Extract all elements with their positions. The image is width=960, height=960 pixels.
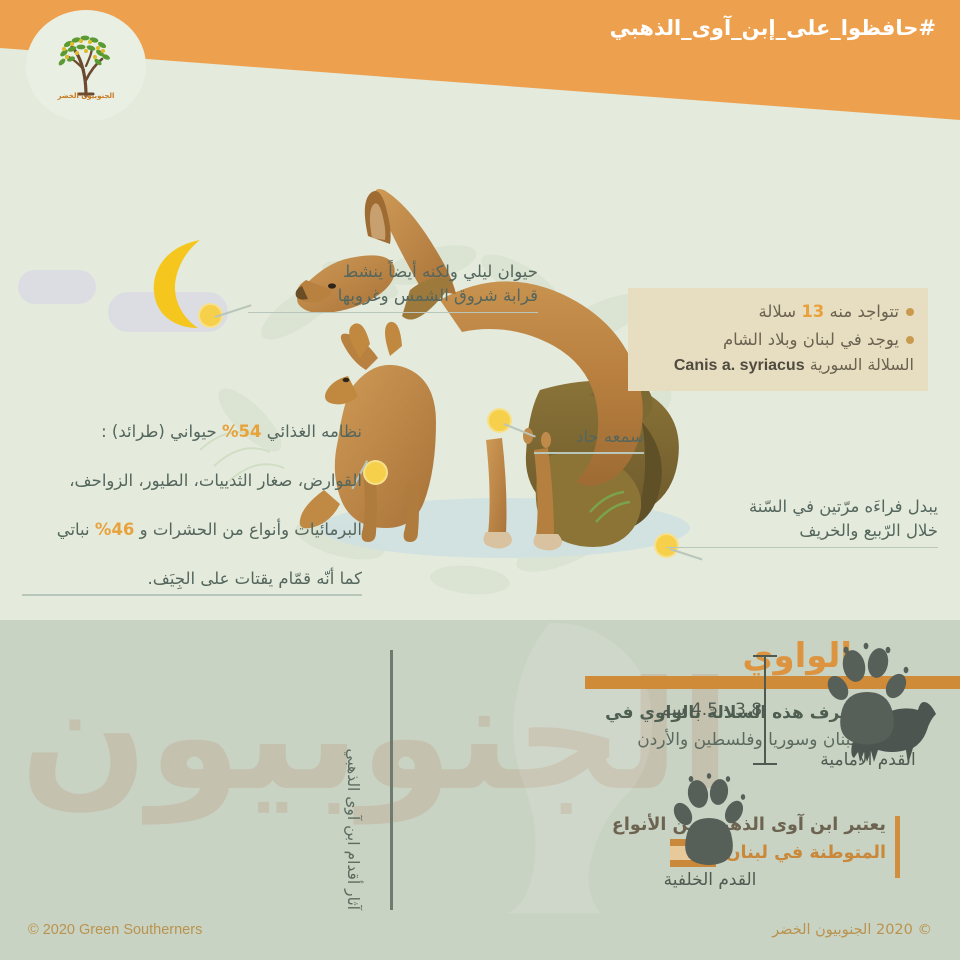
hind-paw-label: القدم الخلفية <box>650 870 770 890</box>
diet-line1-b: حيواني (طرائد) : <box>101 422 222 441</box>
diet-line4: كما أنّه قمّام يقتات على الجِيَف. <box>148 569 362 588</box>
callout-diet: نظامه الغذائي 54% حيواني (طرائد) : القوا… <box>22 396 362 596</box>
callout-diet-text: نظامه الغذائي 54% حيواني (طرائد) : القوا… <box>22 396 362 591</box>
hashtag-title: #حافظوا_على_إبن_آوى_الذهبي <box>610 16 936 40</box>
footer-copyright-ar: © 2020 الجنوبيون الخضر <box>772 922 932 938</box>
bullet-icon <box>906 308 914 316</box>
info-item1-text: تتواجد منه 13 سلالة <box>759 300 899 324</box>
callout-nocturnal-rule <box>248 312 538 314</box>
main-illustration-panel: حيوان ليلي ولكنه أيضاً ينشط قرابة شروق ا… <box>0 120 960 620</box>
bullet-icon <box>906 336 914 344</box>
paw-measurement-label: 3.8 - 4.5 سم <box>660 700 762 720</box>
callout-nocturnal-text: حيوان ليلي ولكنه أيضاً ينشط قرابة شروق ا… <box>248 260 538 309</box>
paw-print-icon <box>822 642 914 746</box>
callout-hearing-rule <box>534 452 644 454</box>
info-item2-text: يوجد في لبنان وبلاد الشام <box>723 328 899 352</box>
diet-line2: القوارض، صغار الثدييات، الطيور، الزواحف، <box>69 471 362 490</box>
callout-fur-text: يبدل فراءَه مرّتين في السّنة خلال الرّبي… <box>666 495 938 544</box>
front-paw-label: القدم الأمامية <box>808 750 928 770</box>
callout-diet-rule <box>22 594 362 596</box>
section-divider <box>390 650 393 910</box>
diet-pct-46: 46% <box>95 520 135 539</box>
subspecies-latin: Canis a. syriacus <box>674 357 805 374</box>
subspecies-count: 13 <box>801 302 824 321</box>
diet-pct-54: 54% <box>222 422 262 441</box>
diet-line1-a: نظامه الغذائي <box>262 422 363 441</box>
callout-fur: يبدل فراءَه مرّتين في السّنة خلال الرّبي… <box>666 495 938 548</box>
infographic-root: #حافظوا_على_إبن_آوى_الذهبي <box>0 0 960 960</box>
subspecies-arabic: السلالة السورية <box>810 355 914 374</box>
front-paw-block: القدم الأمامية <box>808 642 928 770</box>
cloud-decor-1 <box>18 270 96 304</box>
subspecies-info-box: تتواجد منه 13 سلالة يوجد في لبنان وبلاد … <box>628 288 928 391</box>
callout-hearing-text: سمعه حاد <box>534 425 644 449</box>
endangered-accent-bar <box>895 816 900 878</box>
callout-dot-diet <box>365 462 386 483</box>
info-box-item-2: يوجد في لبنان وبلاد الشام <box>640 328 914 352</box>
callout-nocturnal: حيوان ليلي ولكنه أيضاً ينشط قرابة شروق ا… <box>248 260 538 313</box>
diet-line3-a: البرمائيات وأنواع من الحشرات و <box>134 520 362 539</box>
callout-hearing: سمعه حاد <box>534 425 644 454</box>
callout-fur-rule <box>666 547 938 549</box>
tracks-section-label: آثار أقدام ابن آوى الذهبي <box>340 650 362 910</box>
logo-caption: الجنوبيون الخضر <box>26 92 146 100</box>
jackal-silhouette-watermark <box>430 615 660 915</box>
info-box-item-1: تتواجد منه 13 سلالة <box>640 300 914 324</box>
footer-copyright-en: © 2020 Green Southerners <box>28 922 202 938</box>
info-box-item-3: السلالة السورية Canis a. syriacus <box>640 353 914 377</box>
paw-print-icon <box>670 772 750 866</box>
hind-paw-block: القدم الخلفية <box>650 772 770 890</box>
organization-logo: الجنوبيون الخضر <box>26 10 146 122</box>
callout-dot-hearing <box>489 410 510 431</box>
diet-line3-b: نباتي <box>57 520 95 539</box>
